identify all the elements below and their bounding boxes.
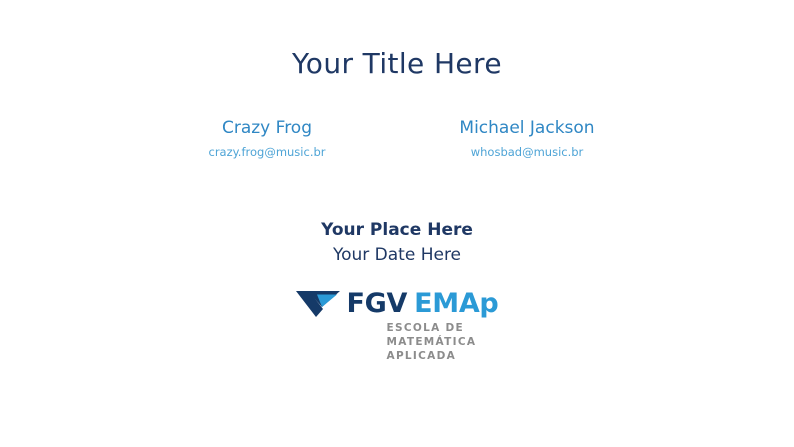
author-entry: Crazy Frog crazy.frog@music.br [137, 118, 397, 160]
logo-wordmark: FGVEMAp [347, 290, 499, 317]
author-entry: Michael Jackson whosbad@music.br [397, 118, 657, 160]
title-block: Your Title Here [0, 48, 794, 80]
logo-subtitle-line-3: APLICADA [387, 350, 477, 364]
logo-word-emap: EMAp [414, 288, 498, 319]
logo-subtitle: ESCOLA DE MATEMÁTICA APLICADA [387, 322, 477, 364]
logo-wordmark-row: FGVEMAp [296, 290, 499, 317]
logo-subtitle-line-2: MATEMÁTICA [387, 336, 477, 350]
date-text: Your Date Here [0, 244, 794, 266]
title-slide: Your Title Here Crazy Frog crazy.frog@mu… [0, 0, 794, 447]
page-title: Your Title Here [0, 48, 794, 80]
meta-block: Your Place Here Your Date Here [0, 219, 794, 266]
author-name: Crazy Frog [137, 118, 397, 139]
authors-block: Crazy Frog crazy.frog@music.br Michael J… [0, 118, 794, 160]
author-name: Michael Jackson [397, 118, 657, 139]
logo-word-fgv: FGV [347, 288, 408, 319]
fgv-emap-logo: FGVEMAp ESCOLA DE MATEMÁTICA APLICADA [296, 290, 499, 364]
fgv-chevron-icon [296, 291, 340, 317]
logo-block: FGVEMAp ESCOLA DE MATEMÁTICA APLICADA [0, 290, 794, 364]
author-email[interactable]: whosbad@music.br [397, 146, 657, 160]
author-email[interactable]: crazy.frog@music.br [137, 146, 397, 160]
logo-subtitle-line-1: ESCOLA DE [387, 322, 477, 336]
place-text: Your Place Here [0, 219, 794, 241]
